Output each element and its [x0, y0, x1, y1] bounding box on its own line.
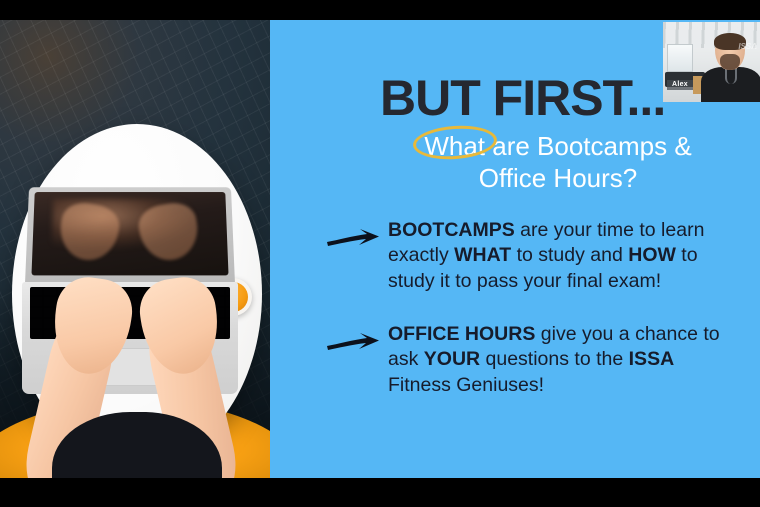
letterbox-top [0, 0, 760, 20]
letterbox-bottom [0, 478, 760, 507]
subtitle-highlighted-word: What [424, 131, 485, 163]
subtitle-word-what: What [424, 131, 485, 161]
bullet-bootcamps-text-b: to study and [511, 244, 628, 266]
bullet-bootcamps-text: BOOTCAMPS are your time to learn exactly… [388, 218, 742, 294]
presentation-slide: BUT FIRST... What are Bootcamps & Office… [0, 20, 760, 478]
bullet-bootcamps-lead: BOOTCAMPS [388, 219, 515, 241]
subtitle-line2: Office Hours? [479, 163, 637, 193]
bullet-office-hours-lead: OFFICE HOURS [388, 323, 535, 345]
bullet-office-hours-text-b: questions to the [480, 348, 629, 370]
participant-name-label: Alex [667, 80, 693, 90]
webcam-overlay[interactable]: ISSA Alex [663, 22, 760, 102]
window [667, 44, 693, 72]
lanyard [725, 68, 737, 84]
bullet-bootcamps-emph-b: WHAT [454, 244, 511, 266]
watermark-text: ISSA [738, 42, 757, 51]
screen-recording-frame: BUT FIRST... What are Bootcamps & Office… [0, 0, 760, 507]
bullet-office-hours: OFFICE HOURS give you a chance to ask YO… [270, 322, 760, 398]
bullet-office-hours-text-c: Fitness Geniuses! [388, 374, 544, 396]
arrow-right-icon [326, 332, 380, 354]
bullet-office-hours-text: OFFICE HOURS give you a chance to ask YO… [388, 322, 742, 398]
bullet-office-hours-emph-c: ISSA [629, 348, 675, 370]
slide-subtitle: What are Bootcamps & Office Hours? [378, 131, 738, 194]
slide-title: BUT FIRST... [380, 73, 665, 123]
bullet-bootcamps: BOOTCAMPS are your time to learn exactly… [270, 218, 760, 294]
bullet-list: BOOTCAMPS are your time to learn exactly… [270, 218, 760, 426]
slide-photo [0, 20, 270, 478]
bullet-office-hours-emph-b: YOUR [424, 348, 480, 370]
presenter-beard [720, 54, 740, 70]
bullet-bootcamps-emph-c: HOW [628, 244, 676, 266]
subtitle-line1-rest: are Bootcamps & [485, 131, 692, 161]
arrow-right-icon [326, 228, 380, 250]
laptop-lid [25, 187, 235, 286]
